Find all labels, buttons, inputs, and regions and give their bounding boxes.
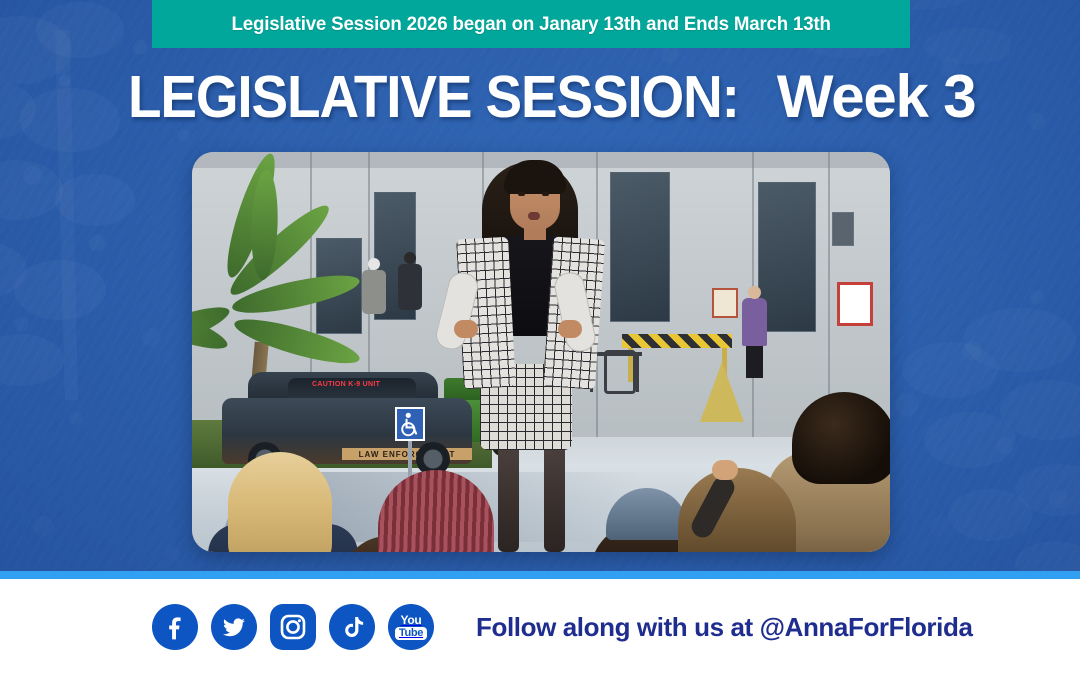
page-title-week: Week 3 <box>761 63 975 130</box>
photo-speaker-eye <box>542 192 549 196</box>
social-links-row: You Tube <box>152 604 434 650</box>
accent-stripe <box>0 571 1080 579</box>
facebook-icon <box>162 614 188 640</box>
photo-bystander-body <box>398 264 422 310</box>
photo-cafe-chair <box>604 350 636 394</box>
instagram-icon <box>279 613 307 641</box>
photo-table-leg <box>636 356 639 392</box>
photo-bystander-body <box>742 298 767 346</box>
photo-wall-fixture <box>832 212 854 246</box>
photo-bystander-head <box>404 252 416 264</box>
youtube-you-text: You <box>401 614 422 626</box>
photo-audience-curly-head <box>792 392 890 484</box>
photo-barricade <box>622 334 732 348</box>
photo-speaker-mouth <box>528 212 540 220</box>
youtube-link[interactable]: You Tube <box>388 604 434 650</box>
footer-bar: You Tube Follow along with us at @AnnaFo… <box>0 579 1080 675</box>
youtube-icon: You Tube <box>395 614 427 640</box>
photo-accessible-parking-sign <box>395 407 425 441</box>
photo-suv-caution-text: CAUTION K-9 UNIT <box>312 380 392 400</box>
legislative-update-poster: Legislative Session 2026 began on Janary… <box>0 0 1080 675</box>
tiktok-link[interactable] <box>329 604 375 650</box>
wheelchair-icon <box>397 409 423 439</box>
twitter-link[interactable] <box>211 604 257 650</box>
photo-bystander-legs <box>746 344 763 378</box>
photo-bystander-head <box>748 286 761 299</box>
photo-bystander-head <box>368 258 380 270</box>
twitter-icon <box>221 614 247 640</box>
session-dates-banner: Legislative Session 2026 began on Janary… <box>152 0 910 48</box>
session-dates-text: Legislative Session 2026 began on Janary… <box>231 13 830 36</box>
page-title: LEGISLATIVE SESSION: Week 3 <box>0 62 1080 131</box>
event-photo: CAUTION K-9 UNIT LAW ENFORCEMENT <box>192 152 890 552</box>
tiktok-icon <box>340 615 364 639</box>
facebook-link[interactable] <box>152 604 198 650</box>
photo-audience-hand <box>712 460 738 480</box>
photo-speaker-leg <box>544 448 565 552</box>
photo-speaker-leg <box>498 448 519 552</box>
photo-suv-door-text: LAW ENFORCEMENT <box>342 448 472 460</box>
photo-speaker-hand <box>454 320 478 338</box>
photo-wall-poster <box>712 288 738 318</box>
follow-us-text: Follow along with us at @AnnaForFlorida <box>476 612 973 643</box>
photo-audience-blonde-head <box>228 452 332 552</box>
photo-window <box>610 172 670 322</box>
photo-speaker-hand <box>558 320 582 338</box>
page-title-primary: LEGISLATIVE SESSION: <box>128 63 739 131</box>
photo-easel <box>700 362 744 422</box>
instagram-link[interactable] <box>270 604 316 650</box>
photo-wall-poster <box>837 282 873 326</box>
photo-bystander-body <box>362 270 386 314</box>
youtube-tube-text: Tube <box>395 627 427 640</box>
photo-speaker-eye <box>518 192 525 196</box>
